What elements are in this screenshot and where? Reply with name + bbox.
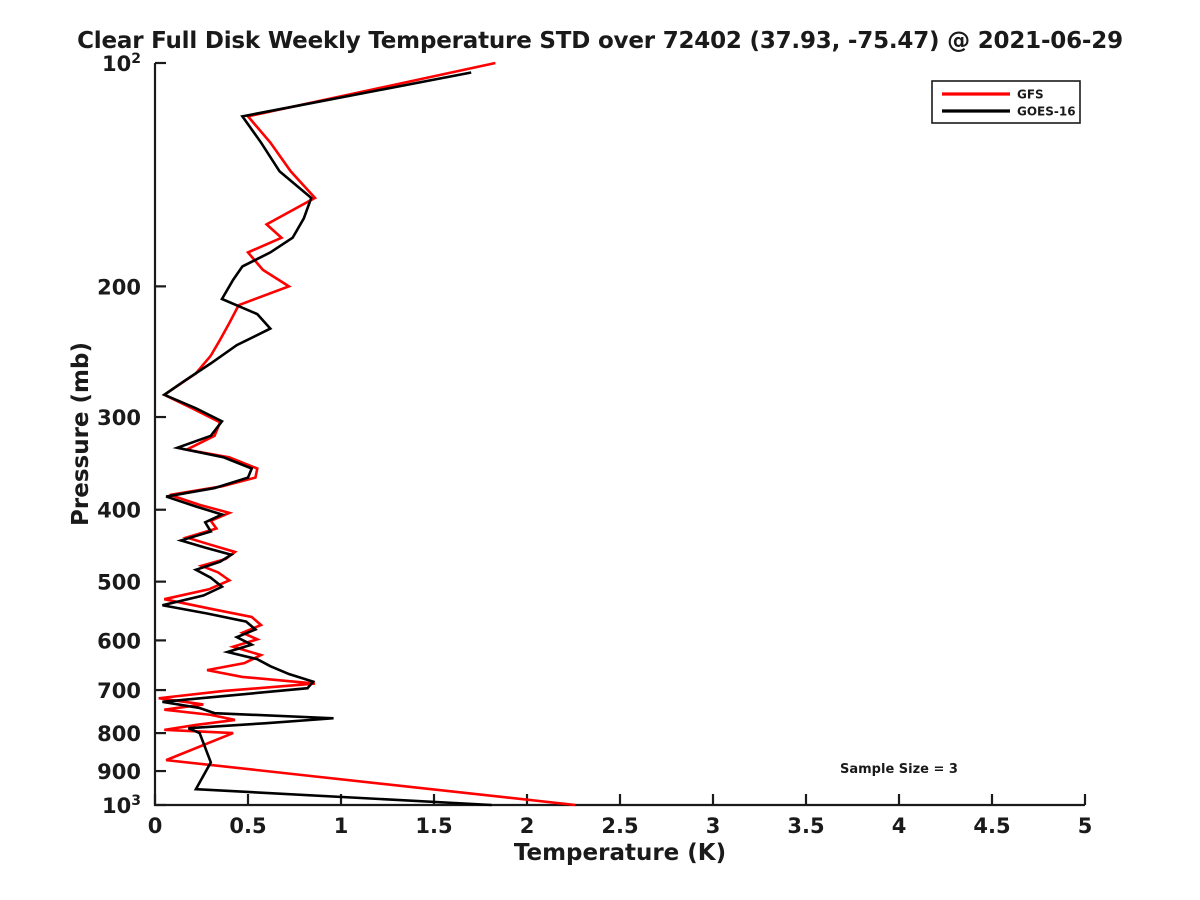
x-tick-label: 4 [892, 814, 907, 838]
chart-page: Clear Full Disk Weekly Temperature STD o… [0, 0, 1200, 900]
y-tick-label: 500 [97, 571, 141, 595]
y-axis-tick-labels: 102200300400500600700800900103 [97, 51, 141, 818]
annotations-group: Sample Size = 3 [840, 762, 958, 777]
series-line-goes-16 [162, 73, 491, 805]
x-tick-label: 5 [1078, 814, 1093, 838]
y-tick-label: 900 [97, 760, 141, 784]
sample-size-annotation: Sample Size = 3 [840, 762, 958, 777]
x-tick-label: 3.5 [787, 814, 824, 838]
x-tick-label: 0.5 [229, 814, 266, 838]
y-tick-label: 600 [97, 629, 141, 653]
data-series-group [159, 63, 576, 805]
y-tick-label: 200 [97, 275, 141, 299]
x-tick-label: 2.5 [601, 814, 638, 838]
x-tick-label: 3 [706, 814, 721, 838]
y-axis-title: Pressure (mb) [68, 342, 94, 526]
x-tick-label: 1 [334, 814, 349, 838]
legend[interactable]: GFSGOES-16 [932, 81, 1080, 123]
x-tick-label: 4.5 [973, 814, 1010, 838]
y-tick-label: 700 [97, 679, 141, 703]
y-tick-label: 400 [97, 499, 141, 523]
x-tick-label: 0 [148, 814, 163, 838]
legend-label-goes-16: GOES-16 [1017, 105, 1076, 119]
legend-label-gfs: GFS [1017, 88, 1044, 102]
plot-canvas: 102200300400500600700800900103 00.511.52… [0, 0, 1200, 900]
x-axis-title: Temperature (K) [514, 840, 726, 866]
series-line-gfs [159, 63, 576, 805]
x-tick-label: 1.5 [415, 814, 452, 838]
y-tick-label: 300 [97, 406, 141, 430]
x-tick-label: 2 [520, 814, 535, 838]
y-tick-label: 800 [97, 722, 141, 746]
x-axis-tick-labels: 00.511.522.533.544.55 [148, 814, 1093, 838]
y-tick-label: 102 [102, 51, 141, 76]
y-tick-label: 103 [102, 793, 141, 818]
y-axis-tick-marks [155, 63, 166, 805]
